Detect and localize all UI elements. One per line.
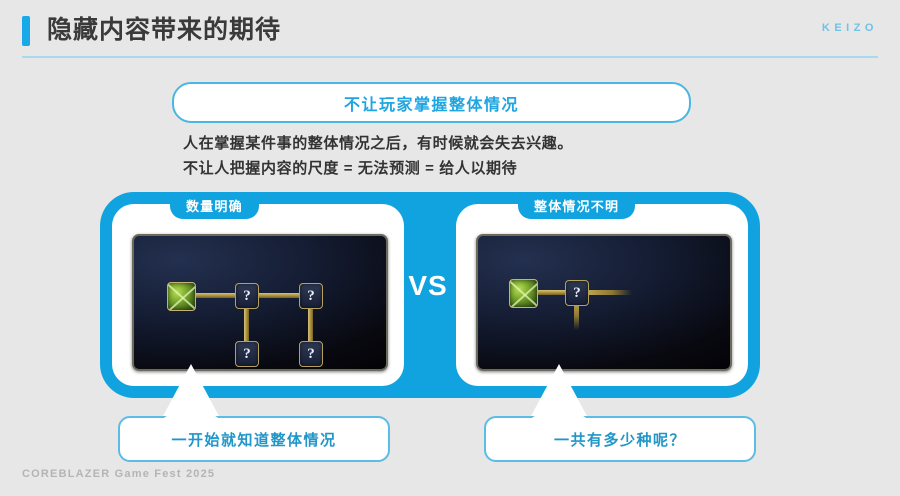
header-divider xyxy=(22,56,878,58)
card-tab-right: 整体情况不明 xyxy=(518,192,635,219)
callout-left: 一开始就知道整体情况 xyxy=(118,416,390,462)
callout-right: 一共有多少种呢？ xyxy=(484,416,756,462)
link-node1-to-node3 xyxy=(244,304,249,346)
link-icon-to-node1 xyxy=(194,293,236,298)
vs-label: VS xyxy=(400,270,456,302)
skill-node-unlocked-icon-right xyxy=(509,279,538,308)
card-tab-right-label: 整体情况不明 xyxy=(534,196,619,215)
footer-text: COREBLAZER Game Fest 2025 xyxy=(22,468,215,480)
game-screenshot-left: ? ? ? ? xyxy=(132,234,388,371)
link-node1-to-node2 xyxy=(252,293,300,298)
skill-node-unlocked-icon xyxy=(167,282,196,311)
game-screenshot-right: ? xyxy=(476,234,732,371)
page-title: 隐藏内容带来的期待 xyxy=(47,13,281,47)
pointer-mask-right xyxy=(537,414,581,420)
card-tab-left: 数量明确 xyxy=(170,192,259,219)
banner-pill: 不让玩家掌握整体情况 xyxy=(172,82,691,123)
brand-logo: KEIZO xyxy=(822,22,878,34)
body-line-1: 人在掌握某件事的整体情况之后，有时候就会失去兴趣。 xyxy=(183,131,783,156)
body-line-2: 不让人把握内容的尺度 = 无法预测 = 给人以期待 xyxy=(183,156,783,181)
comparison-card-left: 数量明确 ? ? ? ? xyxy=(112,204,404,386)
banner-pill-label: 不让玩家掌握整体情况 xyxy=(344,91,519,115)
pointer-mask-left xyxy=(169,414,213,420)
slide-header: 隐藏内容带来的期待 KEIZO xyxy=(0,0,900,58)
link-icon-to-node1-right xyxy=(536,290,566,295)
skill-node-hidden-3: ? xyxy=(235,341,259,367)
link-fade-down xyxy=(574,302,579,330)
card-tab-left-label: 数量明确 xyxy=(186,196,243,215)
slide-root: 隐藏内容带来的期待 KEIZO 不让玩家掌握整体情况 人在掌握某件事的整体情况之… xyxy=(0,0,900,496)
title-accent-bar xyxy=(22,16,30,46)
skill-node-hidden-right-1: ? xyxy=(565,280,589,306)
comparison-card-right: 整体情况不明 ? xyxy=(456,204,748,386)
link-node2-to-node4 xyxy=(308,304,313,346)
callout-right-label: 一共有多少种呢？ xyxy=(554,429,686,450)
link-fade-right xyxy=(588,290,632,295)
skill-node-hidden-2: ? xyxy=(299,283,323,309)
callout-left-label: 一开始就知道整体情况 xyxy=(171,429,336,450)
skill-node-hidden-1: ? xyxy=(235,283,259,309)
body-copy: 人在掌握某件事的整体情况之后，有时候就会失去兴趣。 不让人把握内容的尺度 = 无… xyxy=(183,131,783,181)
skill-node-hidden-4: ? xyxy=(299,341,323,367)
